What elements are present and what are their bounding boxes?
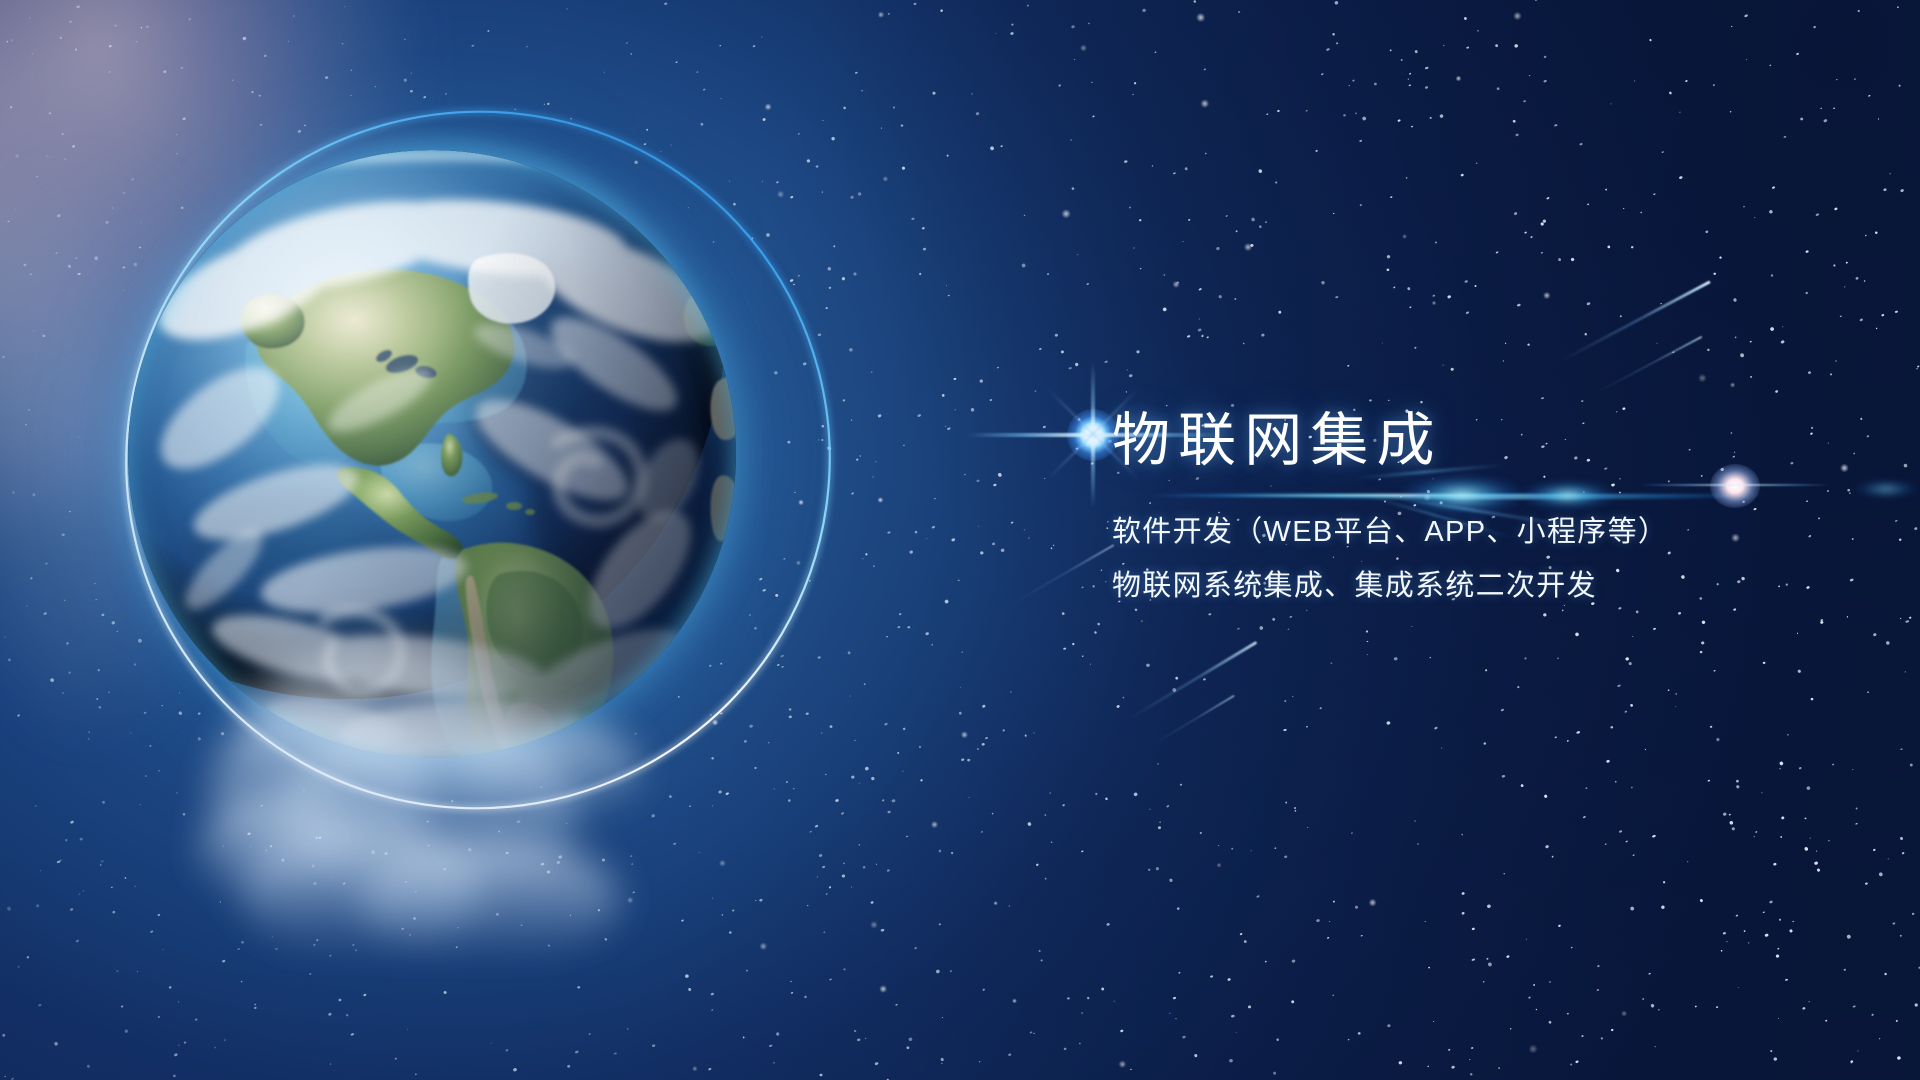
iot-integration-banner: 物联网集成 软件开发（WEB平台、APP、小程序等） 物联网系统集成、集成系统二…	[0, 0, 1920, 1080]
globe-sphere	[128, 150, 736, 758]
earth-globe	[128, 150, 736, 758]
banner-copy: 物联网集成 软件开发（WEB平台、APP、小程序等） 物联网系统集成、集成系统二…	[1112, 410, 1872, 601]
subtitle-line-2: 物联网系统集成、集成系统二次开发	[1112, 571, 1872, 601]
subtitle-line-1: 软件开发（WEB平台、APP、小程序等）	[1112, 517, 1872, 547]
page-title: 物联网集成	[1112, 410, 1872, 471]
